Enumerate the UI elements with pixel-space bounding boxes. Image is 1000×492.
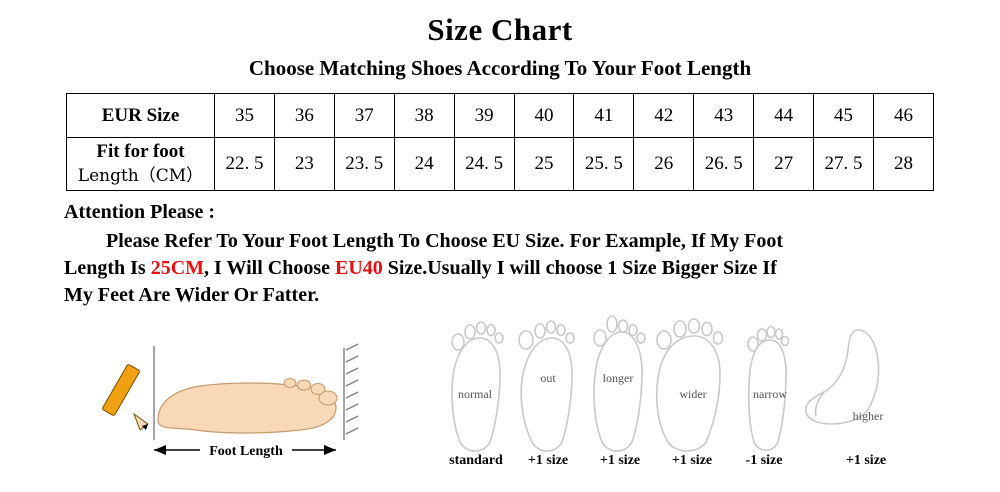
foot-label-longer: longer bbox=[603, 371, 634, 385]
attention-line2-b: , I Will Choose bbox=[204, 257, 335, 279]
table-cell-eur-size: 41 bbox=[574, 94, 634, 138]
table-cell-eur-size: 39 bbox=[454, 94, 514, 138]
foot-label-normal: normal bbox=[458, 387, 493, 401]
foot-shape-icon bbox=[158, 383, 336, 433]
table-cell-foot-length: 22. 5 bbox=[215, 138, 275, 191]
table-cell-foot-length: 26 bbox=[634, 138, 694, 191]
table-cell-eur-size: 38 bbox=[394, 94, 454, 138]
table-cell-eur-size: 45 bbox=[814, 94, 874, 138]
toe-icon bbox=[284, 379, 296, 388]
foot-label-higher: higher bbox=[853, 409, 884, 423]
toe-icon bbox=[311, 384, 325, 395]
size-chart-table: EUR Size 35 36 37 38 39 40 41 42 43 44 4… bbox=[66, 93, 934, 191]
attention-line2-a: Length Is bbox=[64, 257, 151, 279]
foot-label-out: out bbox=[540, 371, 556, 385]
foot-caption-narrow: -1 size bbox=[746, 453, 783, 468]
highlight-foot-length: 25CM bbox=[151, 257, 204, 279]
attention-line1: Please Refer To Your Foot Length To Choo… bbox=[106, 230, 783, 252]
attention-paragraph: Please Refer To Your Foot Length To Choo… bbox=[64, 228, 936, 309]
table-cell-foot-length: 24 bbox=[394, 138, 454, 191]
table-cell-eur-size: 43 bbox=[694, 94, 754, 138]
foot-label-narrow: narrow bbox=[753, 387, 787, 401]
table-cell-foot-length: 25. 5 bbox=[574, 138, 634, 191]
table-cell-eur-size: 42 bbox=[634, 94, 694, 138]
table-row-eur-size: EUR Size 35 36 37 38 39 40 41 42 43 44 4… bbox=[67, 94, 934, 138]
foot-caption-standard: standard bbox=[449, 453, 503, 468]
table-cell-foot-length: 27 bbox=[754, 138, 814, 191]
table-cell-eur-size: 35 bbox=[215, 94, 275, 138]
attention-heading: Attention Please : bbox=[64, 201, 1000, 224]
table-cell-foot-length: 26. 5 bbox=[694, 138, 754, 191]
table-row-foot-length: Fit for foot Length（CM） 22. 5 23 23. 5 2… bbox=[67, 138, 934, 191]
pencil-icon bbox=[102, 364, 148, 430]
row-header-eur-size: EUR Size bbox=[67, 94, 215, 138]
page-subtitle: Choose Matching Shoes According To Your … bbox=[0, 56, 1000, 81]
toe-icon bbox=[298, 380, 311, 390]
row-header-foot-length: Fit for foot Length（CM） bbox=[67, 138, 215, 191]
foot-length-caption: Foot Length bbox=[209, 444, 283, 459]
foot-outline-out-icon bbox=[519, 321, 574, 451]
foot-label-wider: wider bbox=[679, 387, 706, 401]
table-cell-foot-length: 28 bbox=[873, 138, 933, 191]
table-cell-eur-size: 40 bbox=[514, 94, 574, 138]
table-cell-foot-length: 23. 5 bbox=[334, 138, 394, 191]
wall-hatch-icon bbox=[344, 344, 358, 440]
foot-caption-wider: +1 size bbox=[672, 453, 712, 468]
table-cell-foot-length: 25 bbox=[514, 138, 574, 191]
page-title: Size Chart bbox=[0, 12, 1000, 48]
foot-caption-higher: +1 size bbox=[846, 453, 886, 468]
foot-types-diagram: normal out longer wider narrow higher st… bbox=[430, 312, 960, 482]
table-cell-eur-size: 37 bbox=[334, 94, 394, 138]
table-cell-foot-length: 24. 5 bbox=[454, 138, 514, 191]
foot-outline-wider-icon bbox=[657, 319, 723, 451]
highlight-eu-size: EU40 bbox=[335, 257, 383, 279]
table-cell-eur-size: 44 bbox=[754, 94, 814, 138]
foot-measure-diagram: Foot Length bbox=[96, 342, 376, 472]
table-cell-foot-length: 23 bbox=[274, 138, 334, 191]
table-cell-eur-size: 46 bbox=[873, 94, 933, 138]
foot-caption-longer: +1 size bbox=[600, 453, 640, 468]
attention-line3: My Feet Are Wider Or Fatter. bbox=[64, 284, 319, 306]
row-header-foot-length-line1: Fit for foot bbox=[96, 141, 184, 162]
table-cell-foot-length: 27. 5 bbox=[814, 138, 874, 191]
attention-line2-c: Size.Usually I will choose 1 Size Bigger… bbox=[383, 257, 777, 279]
table-cell-eur-size: 36 bbox=[274, 94, 334, 138]
row-header-foot-length-line2: Length（CM） bbox=[78, 166, 203, 186]
foot-caption-out: +1 size bbox=[528, 453, 568, 468]
